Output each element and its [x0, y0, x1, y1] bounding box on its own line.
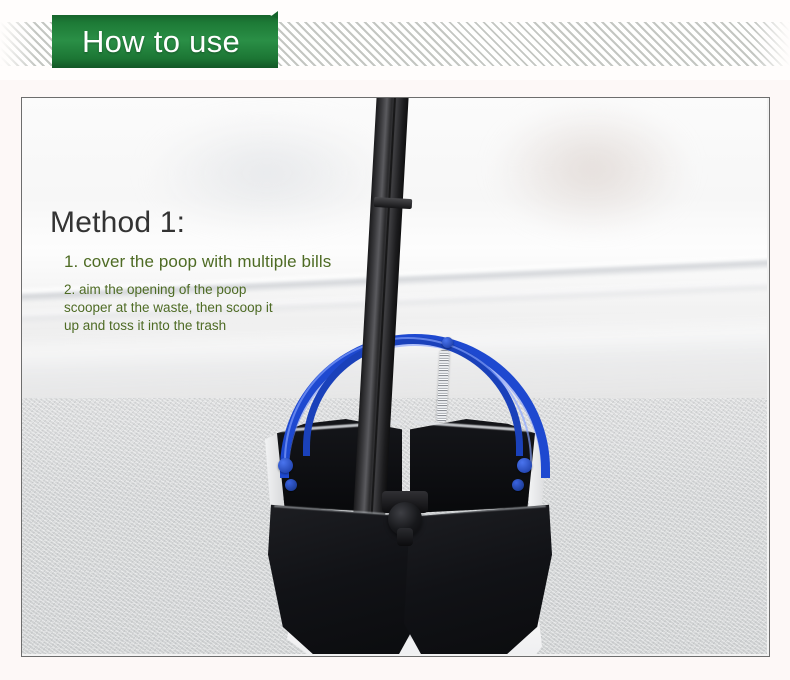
instruction-step-1: 1. cover the poop with multiple bills [64, 252, 410, 272]
method-title: Method 1: [50, 206, 410, 240]
how-to-use-ribbon: How to use [52, 15, 278, 68]
header-stripe-fade-left [0, 22, 36, 66]
scooper-arm-pivot-top-right [442, 337, 453, 348]
header-stripe-fade-right [754, 22, 790, 66]
scooper-hinge-nub [397, 528, 413, 546]
page-header: How to use [0, 0, 790, 80]
photo-background-blur-right [492, 104, 692, 234]
scooper-screw-right [512, 479, 524, 491]
instruction-step-2-line-3: up and toss it into the trash [64, 317, 410, 335]
instruction-photo: Method 1: 1. cover the poop with multipl… [22, 98, 767, 654]
how-to-use-label: How to use [52, 15, 270, 68]
instruction-step-2: 2. aim the opening of the poop scooper a… [64, 281, 410, 336]
scooper-jaw-right [404, 503, 552, 654]
instruction-photo-frame: Method 1: 1. cover the poop with multipl… [21, 97, 770, 657]
instruction-step-2-line-2: scooper at the waste, then scoop it [64, 299, 410, 317]
scooper-arm-pivot-left [278, 458, 293, 473]
instruction-step-2-line-1: 2. aim the opening of the poop [64, 281, 410, 299]
instruction-caption: Method 1: 1. cover the poop with multipl… [50, 206, 410, 336]
scooper-arm-pivot-right [517, 458, 532, 473]
scooper-screw-left [285, 479, 297, 491]
